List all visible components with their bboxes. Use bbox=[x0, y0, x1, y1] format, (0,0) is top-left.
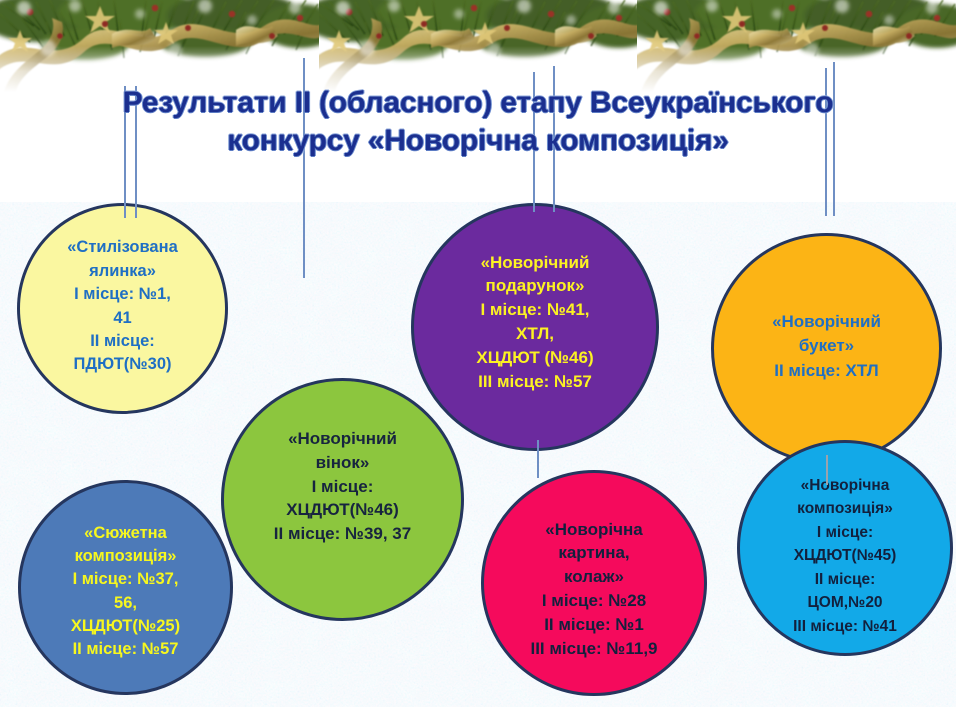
hanging-thread bbox=[533, 72, 535, 212]
bauble-line: букет» bbox=[720, 334, 933, 358]
bauble-line: І місце: №1, bbox=[26, 283, 219, 306]
hanging-thread bbox=[553, 66, 555, 212]
bauble-text: «Сюжетна композиція» І місце: №37, 56, Х… bbox=[21, 522, 230, 661]
bauble-new-year-bouquet[interactable]: «Новорічний букет» ІІ місце: ХТЛ bbox=[711, 233, 942, 464]
bauble-line: «Сюжетна bbox=[27, 522, 224, 545]
hanging-thread bbox=[135, 86, 137, 218]
slide-title-line-1: Результати ІІ (обласного) етапу Всеукраї… bbox=[0, 84, 956, 122]
bauble-line: ХЦДЮТ(№46) bbox=[230, 498, 455, 522]
bauble-line: ХЦДЮТ (№46) bbox=[420, 346, 650, 370]
bauble-text: «Стилізована ялинка» І місце: №1, 41 ІІ … bbox=[20, 236, 225, 377]
bauble-line: І місце: bbox=[746, 521, 944, 545]
bauble-text: «Новорічний букет» ІІ місце: ХТЛ bbox=[714, 310, 939, 382]
bauble-line: ХТЛ, bbox=[420, 322, 650, 346]
bauble-line: ХЦДЮТ(№25) bbox=[27, 615, 224, 638]
bauble-line: «Новорічний bbox=[720, 310, 933, 334]
slide-title-line-2: конкурсу «Новорічна композиція» bbox=[0, 122, 956, 160]
bauble-new-year-wreath[interactable]: «Новорічний вінок» І місце: ХЦДЮТ(№46) І… bbox=[221, 378, 464, 621]
bauble-line: «Новорічний bbox=[230, 427, 455, 451]
bauble-line: 56, bbox=[27, 592, 224, 615]
bauble-new-year-composition[interactable]: «Новорічна композиція» І місце: ХЦДЮТ(№4… bbox=[737, 440, 953, 656]
hanging-thread bbox=[124, 86, 126, 218]
bauble-line: ІІІ місце: №11,9 bbox=[490, 637, 698, 661]
bauble-line: колаж» bbox=[490, 565, 698, 589]
bauble-line: І місце: №37, bbox=[27, 568, 224, 591]
hanging-thread bbox=[537, 440, 539, 478]
bauble-line: ІІ місце: №1 bbox=[490, 613, 698, 637]
pine-ribbon-tile bbox=[319, 0, 638, 92]
hanging-thread bbox=[833, 62, 835, 216]
bauble-line: ЦОМ,№20 bbox=[746, 591, 944, 615]
bauble-line: композиція» bbox=[27, 545, 224, 568]
pine-ribbon-tile bbox=[637, 0, 956, 92]
bauble-line: ІІ місце: №39, 37 bbox=[230, 522, 455, 546]
bauble-text: «Новорічна картина, колаж» І місце: №28 … bbox=[484, 518, 704, 661]
bauble-line: ІІІ місце: №57 bbox=[420, 370, 650, 394]
bauble-line: «Новорічна bbox=[490, 518, 698, 542]
bauble-line: І місце: №41, bbox=[420, 298, 650, 322]
bauble-line: «Новорічна bbox=[746, 474, 944, 498]
bauble-line: І місце: №28 bbox=[490, 589, 698, 613]
bauble-line: ХЦДЮТ(№45) bbox=[746, 544, 944, 568]
slide-title: Результати ІІ (обласного) етапу Всеукраї… bbox=[0, 84, 956, 161]
bauble-line: 41 bbox=[26, 307, 219, 330]
bauble-line: «Новорічний bbox=[420, 251, 650, 275]
bauble-line: картина, bbox=[490, 541, 698, 565]
bauble-line: ІІ місце: №57 bbox=[27, 638, 224, 661]
bauble-text: «Новорічний подарунок» І місце: №41, ХТЛ… bbox=[414, 251, 656, 394]
pine-ribbon-tile bbox=[0, 0, 319, 92]
bauble-new-year-gift[interactable]: «Новорічний подарунок» І місце: №41, ХТЛ… bbox=[411, 203, 659, 451]
bauble-line: «Стилізована bbox=[26, 236, 219, 259]
bauble-line: ПДЮТ(№30) bbox=[26, 353, 219, 376]
bauble-story-composition[interactable]: «Сюжетна композиція» І місце: №37, 56, Х… bbox=[18, 480, 233, 695]
bauble-line: вінок» bbox=[230, 451, 455, 475]
hanging-thread bbox=[303, 58, 305, 278]
hanging-thread bbox=[825, 68, 827, 216]
bauble-new-year-picture-collage[interactable]: «Новорічна картина, колаж» І місце: №28 … bbox=[481, 470, 707, 696]
bauble-line: ялинка» bbox=[26, 260, 219, 283]
pine-branch-icon bbox=[0, 0, 319, 92]
bauble-text: «Новорічний вінок» І місце: ХЦДЮТ(№46) І… bbox=[224, 427, 461, 546]
bauble-stylized-tree[interactable]: «Стилізована ялинка» І місце: №1, 41 ІІ … bbox=[17, 203, 228, 414]
bauble-text: «Новорічна композиція» І місце: ХЦДЮТ(№4… bbox=[740, 474, 950, 639]
bauble-line: композиція» bbox=[746, 497, 944, 521]
bauble-line: ІІІ місце: №41 bbox=[746, 615, 944, 639]
bauble-line: ІІ місце: bbox=[746, 568, 944, 592]
connector-thread bbox=[826, 455, 828, 485]
pine-branch-icon bbox=[319, 0, 638, 92]
pine-branch-icon bbox=[637, 0, 956, 92]
pine-ribbon-header-banner bbox=[0, 0, 956, 92]
bauble-line: ІІ місце: ХТЛ bbox=[720, 359, 933, 383]
bauble-line: ІІ місце: bbox=[26, 330, 219, 353]
slide-canvas: «Стилізована ялинка» І місце: №1, 41 ІІ … bbox=[0, 0, 956, 707]
bauble-line: подарунок» bbox=[420, 274, 650, 298]
bauble-line: І місце: bbox=[230, 475, 455, 499]
